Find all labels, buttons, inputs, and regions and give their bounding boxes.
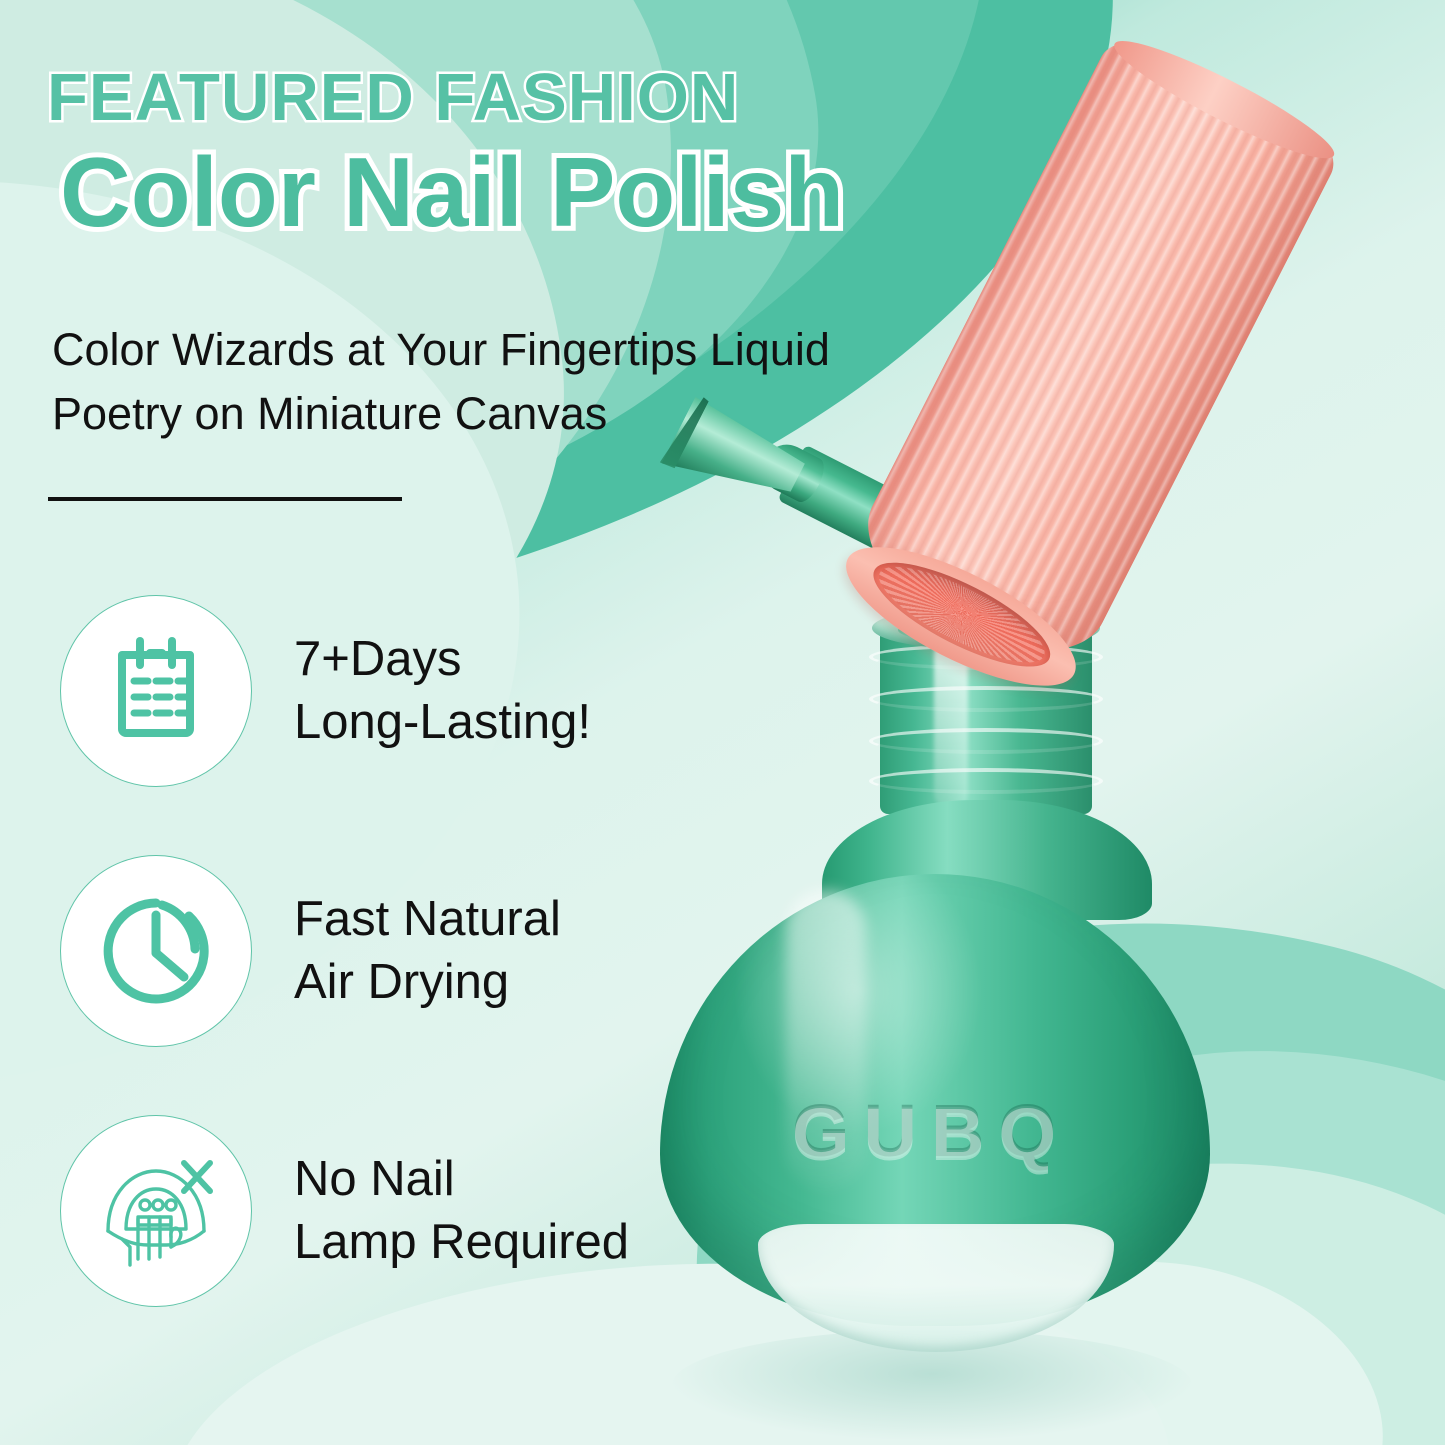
calendar-icon bbox=[60, 595, 252, 787]
eyebrow-text: FEATURED FASHION bbox=[47, 64, 844, 131]
clock-icon bbox=[60, 855, 252, 1047]
feature-item: Fast Natural Air Drying bbox=[60, 855, 629, 1047]
headline-block: FEATURED FASHION Color Nail Polish bbox=[47, 64, 844, 245]
no-nail-lamp-icon bbox=[60, 1115, 252, 1307]
nail-polish-bottle: GUBQ bbox=[636, 612, 1226, 1372]
feature-label: 7+Days Long-Lasting! bbox=[294, 628, 591, 753]
feature-label: Fast Natural Air Drying bbox=[294, 888, 561, 1013]
divider bbox=[48, 497, 402, 501]
bottle-thread bbox=[869, 768, 1103, 794]
bottle-glass-base bbox=[758, 1224, 1114, 1352]
feature-list: 7+Days Long-Lasting! Fast Natural Air Dr… bbox=[60, 595, 629, 1307]
subheading-text: Color Wizards at Your Fingertips Liquid … bbox=[52, 318, 932, 446]
bottle-body-highlight bbox=[786, 890, 866, 1190]
feature-item: No Nail Lamp Required bbox=[60, 1115, 629, 1307]
page-title: Color Nail Polish bbox=[60, 141, 844, 245]
feature-item: 7+Days Long-Lasting! bbox=[60, 595, 629, 787]
product-poster: FEATURED FASHION Color Nail Polish Color… bbox=[0, 0, 1445, 1445]
bottle-thread bbox=[869, 728, 1103, 754]
bottle-thread bbox=[869, 686, 1103, 712]
feature-label: No Nail Lamp Required bbox=[294, 1148, 629, 1273]
